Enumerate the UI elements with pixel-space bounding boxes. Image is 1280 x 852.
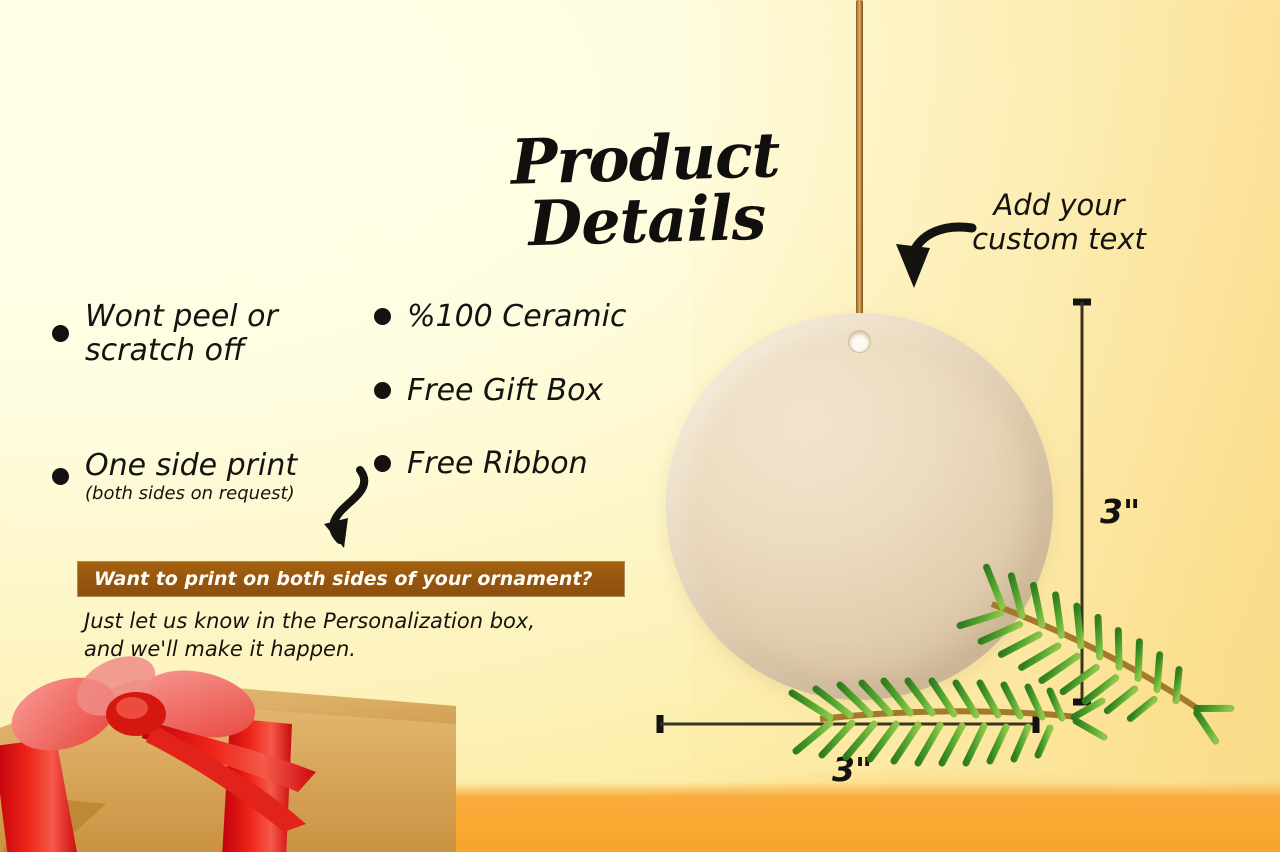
- feature-list-right: %100 Ceramic Free Gift Box Free Ribbon: [374, 300, 664, 521]
- pine-branch-image: [850, 597, 1280, 852]
- ornament-hole: [849, 331, 870, 352]
- product-details-graphic: Product Details Wont peel or scratch off…: [0, 0, 1280, 852]
- bullet-dot-icon: [52, 325, 69, 342]
- feature-label: Free Ribbon: [407, 447, 588, 481]
- feature-label-wrap: One side print (both sides on request): [85, 415, 297, 538]
- feature-label: Free Gift Box: [407, 374, 603, 408]
- feature-label: One side print: [85, 448, 297, 483]
- bullet-dot-icon: [374, 382, 391, 399]
- height-dimension-label: 3": [1100, 492, 1140, 531]
- list-item: %100 Ceramic: [374, 300, 664, 334]
- bullet-dot-icon: [374, 308, 391, 325]
- bullet-dot-icon: [52, 468, 69, 485]
- curved-arrow-down-left-icon: [288, 462, 398, 562]
- promo-banner-text: Want to print on both sides of your orna…: [78, 568, 592, 590]
- feature-label: Wont peel or scratch off: [85, 300, 278, 367]
- promo-banner: Want to print on both sides of your orna…: [78, 562, 624, 596]
- gift-box-image: [0, 628, 456, 852]
- list-item: Free Ribbon: [374, 447, 664, 481]
- list-item: Free Gift Box: [374, 374, 664, 408]
- page-title: Product Details: [434, 122, 857, 258]
- curved-arrow-down-icon: [890, 218, 980, 296]
- hanging-cord: [856, 0, 863, 345]
- list-item: Wont peel or scratch off: [52, 300, 362, 367]
- feature-sublabel: (both sides on request): [85, 483, 297, 505]
- feature-label: %100 Ceramic: [407, 300, 626, 334]
